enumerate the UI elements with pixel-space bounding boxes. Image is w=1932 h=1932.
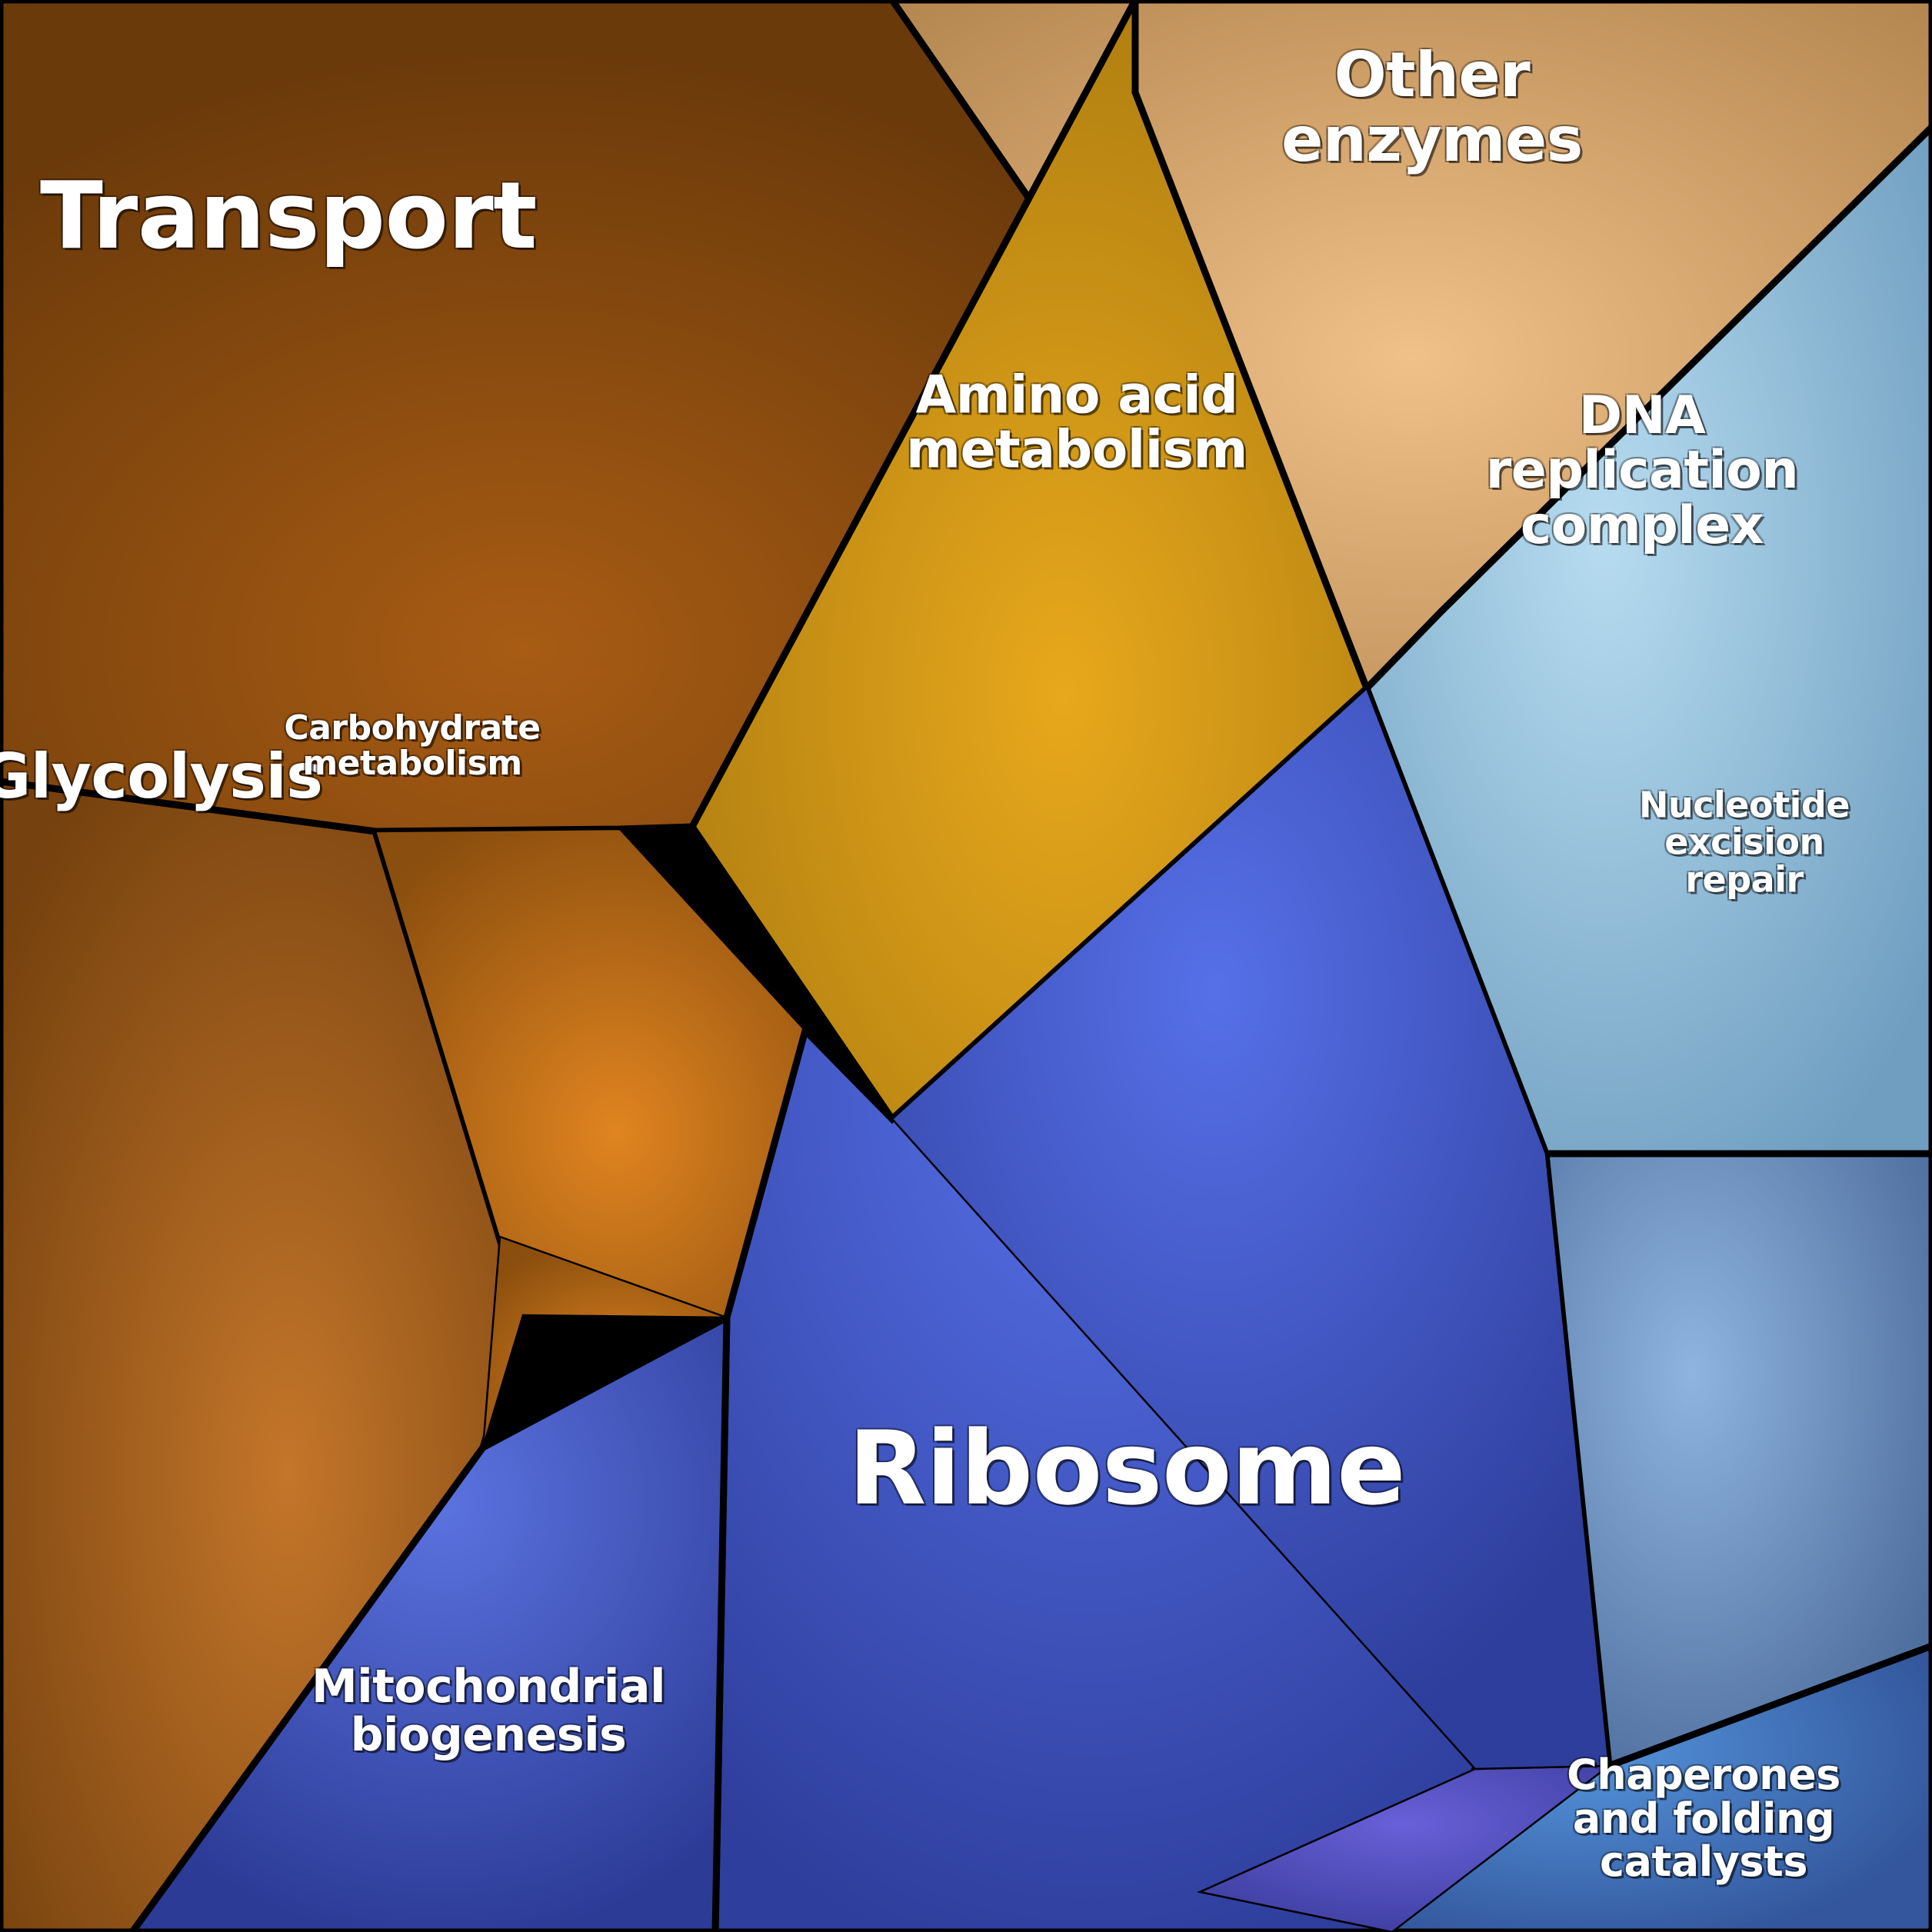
voronoi-treemap-figure: TransportOther enzymesAmino acid metabol… <box>0 0 1932 1932</box>
voronoi-treemap-svg <box>0 0 1932 1932</box>
treemap-cells <box>0 0 1932 1932</box>
